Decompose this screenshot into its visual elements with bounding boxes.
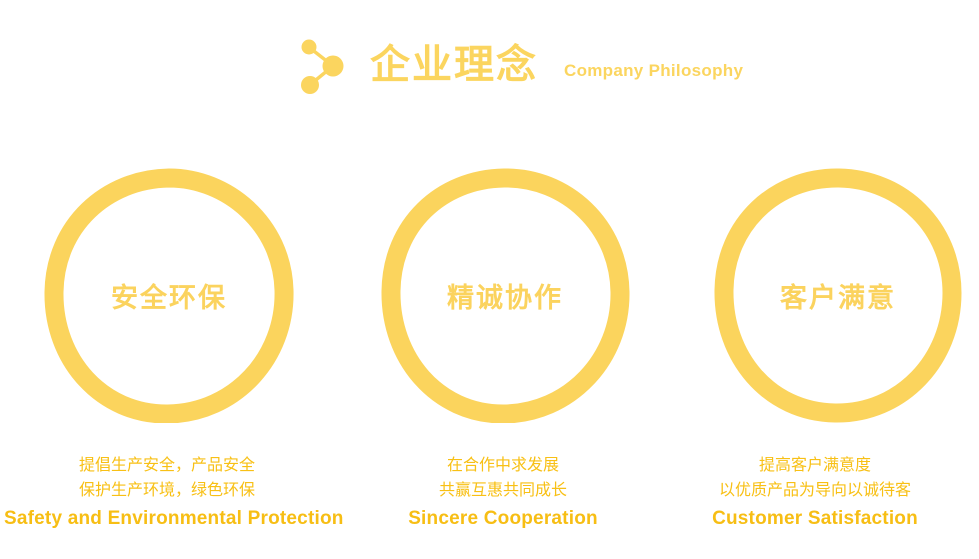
caption-en: Safety and Environmental Protection (4, 505, 330, 533)
caption-cn-line-1: 提倡生产安全，产品安全 (4, 452, 330, 477)
caption-cn-line-2: 共赢互惠共同成长 (340, 477, 666, 502)
caption-cn-line-1: 提高客户满意度 (652, 452, 978, 477)
pillar-ring-label-2: 精诚协作 (380, 168, 630, 423)
caption-cn-line-2: 以优质产品为导向以诚待客 (652, 477, 978, 502)
page-title-cn: 企业理念 (370, 45, 538, 85)
pillar-ring-3[interactable]: 客户满意 (713, 168, 963, 423)
slide-header: 企业理念 Company Philosophy (292, 30, 743, 100)
caption-en: Customer Satisfaction (652, 505, 978, 533)
pillar-ring-label-3: 客户满意 (713, 168, 963, 423)
pillar-ring-row: 安全环保 精诚协作 客户满意 (0, 168, 979, 423)
caption-cn-line-1: 在合作中求发展 (340, 452, 666, 477)
pillar-caption-1: 提倡生产安全，产品安全 保护生产环境，绿色环保 Safety and Envir… (4, 452, 330, 533)
caption-en: Sincere Cooperation (340, 505, 666, 533)
pillar-ring-1[interactable]: 安全环保 (44, 168, 294, 423)
pillar-ring-2[interactable]: 精诚协作 (380, 168, 630, 423)
slide-canvas: 企业理念 Company Philosophy 安全环保 精诚协作 客户满意 提… (0, 0, 979, 559)
pillar-caption-2: 在合作中求发展 共赢互惠共同成长 Sincere Cooperation (340, 452, 666, 533)
pillar-ring-label-1: 安全环保 (44, 168, 294, 423)
page-title-en: Company Philosophy (564, 61, 743, 81)
pillar-caption-row: 提倡生产安全，产品安全 保护生产环境，绿色环保 Safety and Envir… (0, 452, 979, 559)
pillar-caption-3: 提高客户满意度 以优质产品为导向以诚待客 Customer Satisfacti… (652, 452, 978, 533)
caption-cn-line-2: 保护生产环境，绿色环保 (4, 477, 330, 502)
share-node-icon (292, 35, 348, 95)
